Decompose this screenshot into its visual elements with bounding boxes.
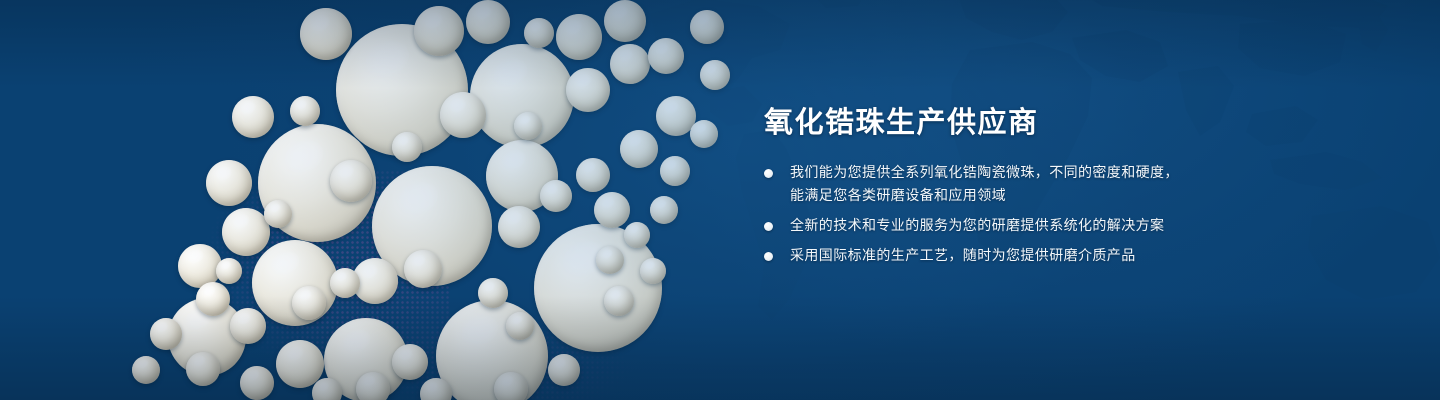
list-item: 全新的技术和专业的服务为您的研磨提供系统化的解决方案 xyxy=(762,215,1232,238)
list-item-line: 我们能为您提供全系列氧化锆陶瓷微珠，不同的密度和硬度， xyxy=(790,162,1232,185)
banner-copy: 氧化锆珠生产供应商 我们能为您提供全系列氧化锆陶瓷微珠，不同的密度和硬度， 能满… xyxy=(762,104,1232,268)
feature-list: 我们能为您提供全系列氧化锆陶瓷微珠，不同的密度和硬度， 能满足您各类研磨设备和应… xyxy=(762,162,1232,268)
bullet-dot-icon xyxy=(764,169,773,178)
bullet-dot-icon xyxy=(764,222,773,231)
list-item: 采用国际标准的生产工艺，随时为您提供研磨介质产品 xyxy=(762,245,1232,268)
list-item-line: 全新的技术和专业的服务为您的研磨提供系统化的解决方案 xyxy=(790,215,1232,238)
list-item: 我们能为您提供全系列氧化锆陶瓷微珠，不同的密度和硬度， 能满足您各类研磨设备和应… xyxy=(762,162,1232,208)
bullet-dot-icon xyxy=(764,252,773,261)
page-title: 氧化锆珠生产供应商 xyxy=(764,104,1232,140)
list-item-line: 能满足您各类研磨设备和应用领域 xyxy=(790,185,1232,208)
hero-banner: 氧化锆珠生产供应商 我们能为您提供全系列氧化锆陶瓷微珠，不同的密度和硬度， 能满… xyxy=(0,0,1440,400)
list-item-line: 采用国际标准的生产工艺，随时为您提供研磨介质产品 xyxy=(790,245,1232,268)
